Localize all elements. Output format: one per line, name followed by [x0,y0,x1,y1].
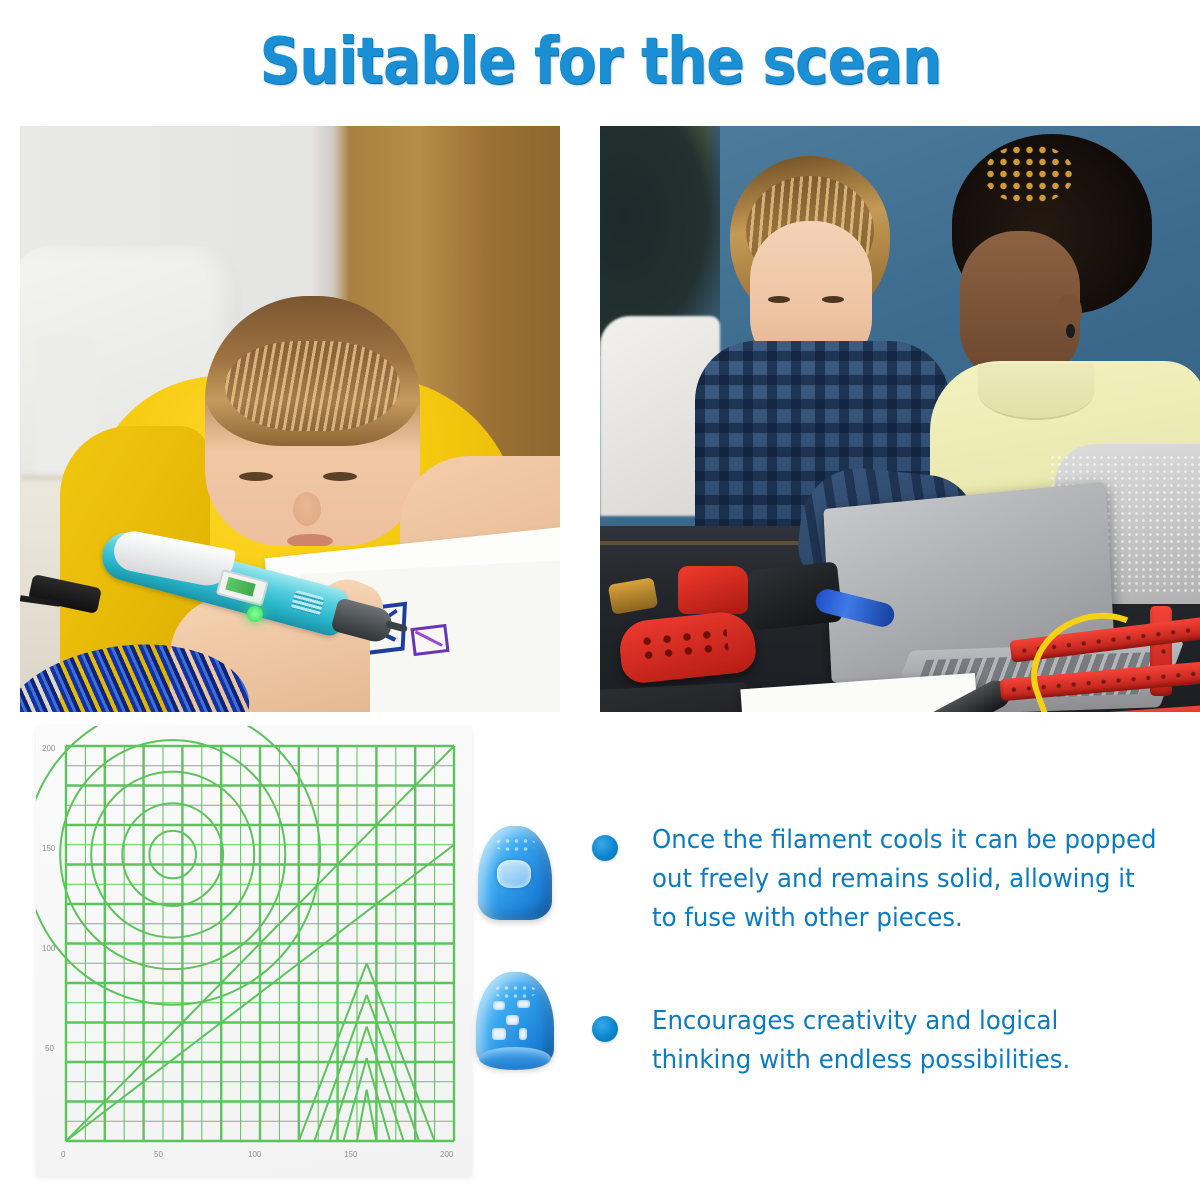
boy-polo-collar [978,364,1094,420]
silicone-finger-cap-window [478,826,552,920]
cap-bottom-lip [479,1047,551,1070]
pen-drawing-shape-small [410,624,449,656]
feature-bullet-item: Encourages creativity and logical thinki… [592,1002,1192,1080]
drawing-mat-graphic [36,726,472,1176]
mat-x-tick-100: 100 [248,1150,261,1159]
feature-bullet-list: Once the filament cools it can be popped… [592,821,1192,1144]
photo-boy-using-3d-pen [20,126,560,712]
red-robot-part [678,566,748,614]
cap-vent-hole-2 [517,1000,530,1009]
mat-y-tick-100: 100 [42,944,55,953]
cap-texture-dots [493,984,537,999]
drawing-mat: 200 150 100 50 0 50 100 150 200 [36,726,472,1176]
mat-y-tick-150: 150 [42,844,55,853]
page-title: Suitable for the scean [259,27,941,97]
boy-earring [1066,324,1075,338]
cap-vent-hole-1 [493,1001,505,1011]
product-feature-page: Suitable for the scean [0,0,1200,1200]
boy-head [205,296,420,546]
mat-x-tick-50: 50 [154,1150,163,1159]
cap-vent-hole-3 [506,1015,519,1025]
cap-oval-window [497,860,531,888]
feature-bullet-text: Once the filament cools it can be popped… [652,821,1160,938]
mat-x-tick-200: 200 [440,1150,453,1159]
silicone-finger-cap-vented [476,972,554,1068]
mat-x-tick-150: 150 [344,1150,357,1159]
bottom-section: 200 150 100 50 0 50 100 150 200 [0,726,1200,1200]
photo-row [20,126,1185,712]
photo-kids-with-laptop-and-robotics [600,126,1200,712]
red-robotics-kit [1000,596,1200,712]
cap-vent-hole-4 [492,1028,506,1040]
boy-nose [293,492,321,526]
mat-y-tick-200: 200 [42,744,55,753]
boy-eye-left [239,472,273,481]
mat-x-tick-0: 0 [61,1150,65,1159]
bullet-dot-icon [592,835,618,861]
feature-bullet-item: Once the filament cools it can be popped… [592,821,1192,938]
boy-eye-right [323,472,357,481]
boy-mouth [287,534,333,546]
cap-vent-hole-5 [519,1028,527,1040]
girl-eye-right [822,296,844,303]
girl-eye-left [768,296,790,303]
mat-y-tick-50: 50 [45,1044,54,1053]
bullet-dot-icon [592,1016,618,1042]
feature-bullet-text: Encourages creativity and logical thinki… [652,1002,1160,1080]
page-title-bar: Suitable for the scean [0,22,1200,102]
